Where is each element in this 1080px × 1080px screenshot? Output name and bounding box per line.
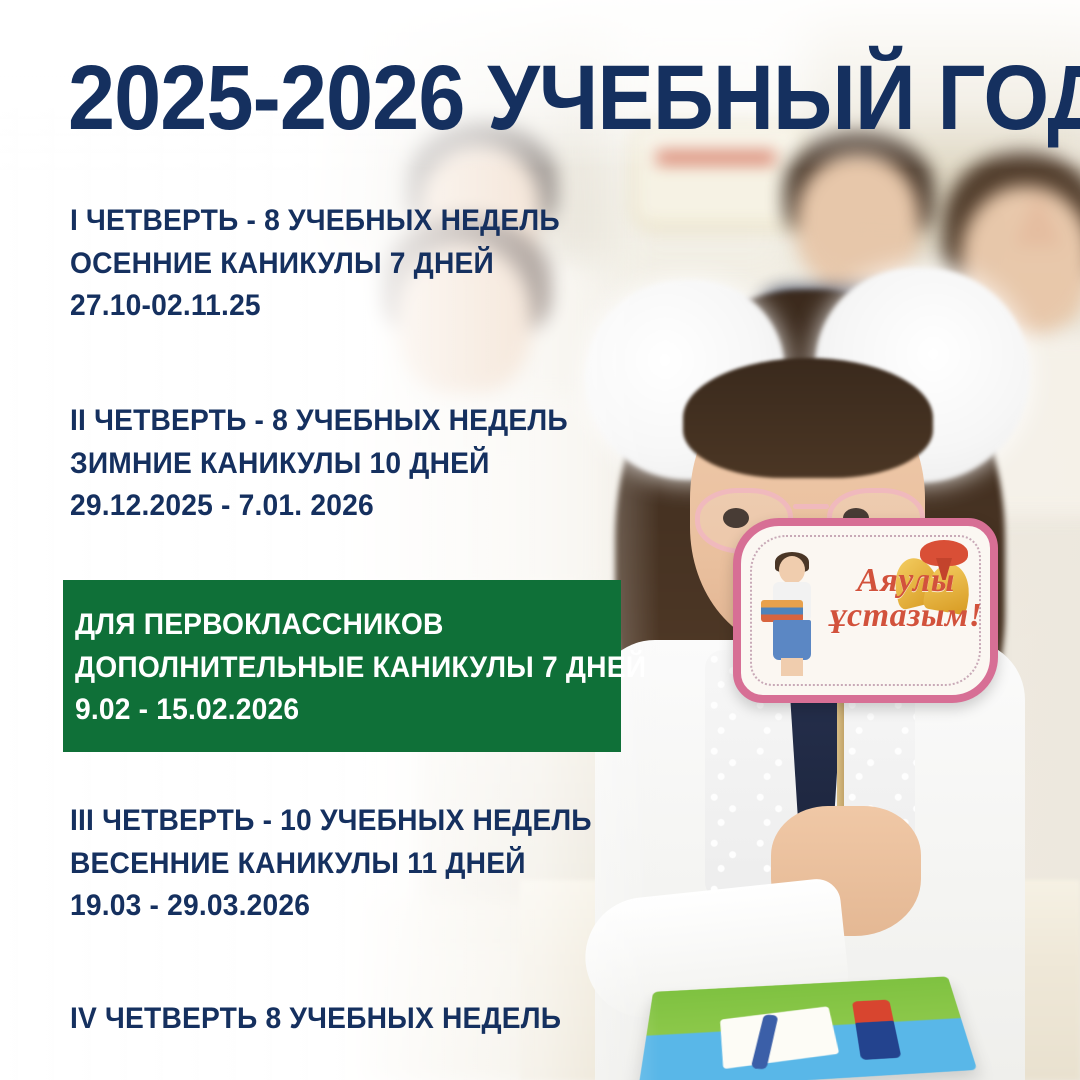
term-1-block: I ЧЕТВЕРТЬ - 8 УЧЕБНЫХ НЕДЕЛЬ ОСЕННИЕ КА… (70, 200, 560, 328)
poster-content: 2025-2026 УЧЕБНЫЙ ГОД I ЧЕТВЕРТЬ - 8 УЧЕ… (0, 0, 1080, 1080)
term-3-holiday-line: ВЕСЕННИЕ КАНИКУЛЫ 11 ДНЕЙ (70, 843, 592, 886)
first-graders-highlight-card: ДЛЯ ПЕРВОКЛАССНИКОВ ДОПОЛНИТЕЛЬНЫЕ КАНИК… (63, 580, 621, 752)
term-1-dates-line: 27.10-02.11.25 (70, 285, 560, 328)
term-1-weeks-line: I ЧЕТВЕРТЬ - 8 УЧЕБНЫХ НЕДЕЛЬ (70, 200, 560, 243)
term-3-block: III ЧЕТВЕРТЬ - 10 УЧЕБНЫХ НЕДЕЛЬ ВЕСЕННИ… (70, 800, 592, 928)
first-graders-line-2: ДОПОЛНИТЕЛЬНЫЕ КАНИКУЛЫ 7 ДНЕЙ (75, 647, 646, 690)
term-1-holiday-line: ОСЕННИЕ КАНИКУЛЫ 7 ДНЕЙ (70, 243, 560, 286)
first-graders-text: ДЛЯ ПЕРВОКЛАССНИКОВ ДОПОЛНИТЕЛЬНЫЕ КАНИК… (75, 604, 646, 732)
term-2-dates-line: 29.12.2025 - 7.01. 2026 (70, 485, 568, 528)
first-graders-line-3: 9.02 - 15.02.2026 (75, 689, 646, 732)
term-2-holiday-line: ЗИМНИЕ КАНИКУЛЫ 10 ДНЕЙ (70, 443, 568, 486)
term-3-dates-line: 19.03 - 29.03.2026 (70, 885, 592, 928)
term-4-block: IV ЧЕТВЕРТЬ 8 УЧЕБНЫХ НЕДЕЛЬ (70, 998, 561, 1041)
term-2-weeks-line: II ЧЕТВЕРТЬ - 8 УЧЕБНЫХ НЕДЕЛЬ (70, 400, 568, 443)
term-4-weeks-line: IV ЧЕТВЕРТЬ 8 УЧЕБНЫХ НЕДЕЛЬ (70, 998, 561, 1041)
school-year-calendar-poster: Аяулы ұстазым! 2025-2026 УЧЕБНЫЙ ГОД I Ч… (0, 0, 1080, 1080)
first-graders-line-1: ДЛЯ ПЕРВОКЛАССНИКОВ (75, 604, 646, 647)
term-3-weeks-line: III ЧЕТВЕРТЬ - 10 УЧЕБНЫХ НЕДЕЛЬ (70, 800, 592, 843)
page-title: 2025-2026 УЧЕБНЫЙ ГОД (68, 52, 1080, 144)
term-2-block: II ЧЕТВЕРТЬ - 8 УЧЕБНЫХ НЕДЕЛЬ ЗИМНИЕ КА… (70, 400, 568, 528)
